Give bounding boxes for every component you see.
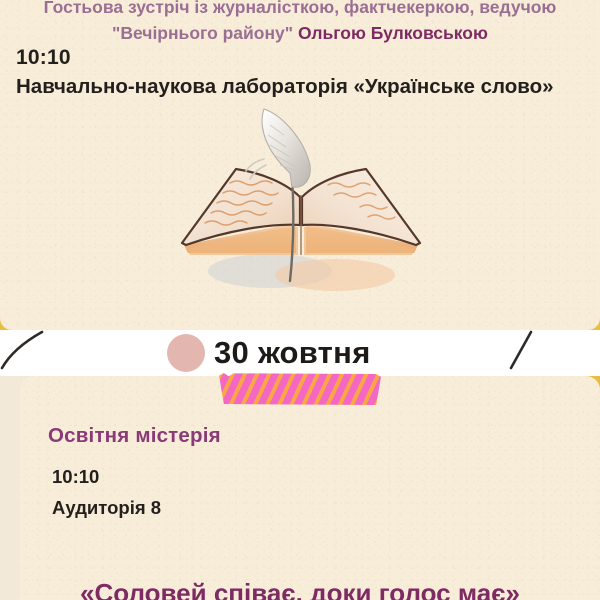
event-quote: «Соловей співає, доки голос має»	[0, 578, 600, 600]
intro-line-1: Гостьова зустріч із журналісткою, фактче…	[0, 0, 600, 20]
intro-paragraph: Гостьова зустріч із журналісткою, фактче…	[0, 0, 600, 46]
curved-line-doodle	[2, 332, 42, 368]
bottom-event-room: Аудиторія 8	[52, 497, 161, 519]
guest-name: Ольгою Булковською	[298, 23, 488, 43]
washi-tape-decoration	[219, 373, 381, 405]
top-event-venue: Навчально-наукова лабораторія «Українськ…	[16, 75, 554, 99]
date-bullet-dot	[167, 334, 205, 372]
top-event-time: 10:10	[16, 46, 71, 70]
intro-line-2: "Вечірнього району" Ольгою Булковською	[0, 20, 600, 46]
bottom-content-card	[20, 376, 600, 600]
slash-line-doodle	[511, 332, 531, 368]
poster-canvas: Гостьова зустріч із журналісткою, фактче…	[0, 0, 600, 600]
event-date: 30 жовтня	[214, 335, 371, 371]
open-book-with-quill-icon	[170, 103, 432, 308]
bottom-event-title: Освітня містерія	[48, 424, 221, 448]
bottom-event-time: 10:10	[52, 466, 99, 488]
intro-show-title: "Вечірнього району"	[112, 23, 298, 43]
